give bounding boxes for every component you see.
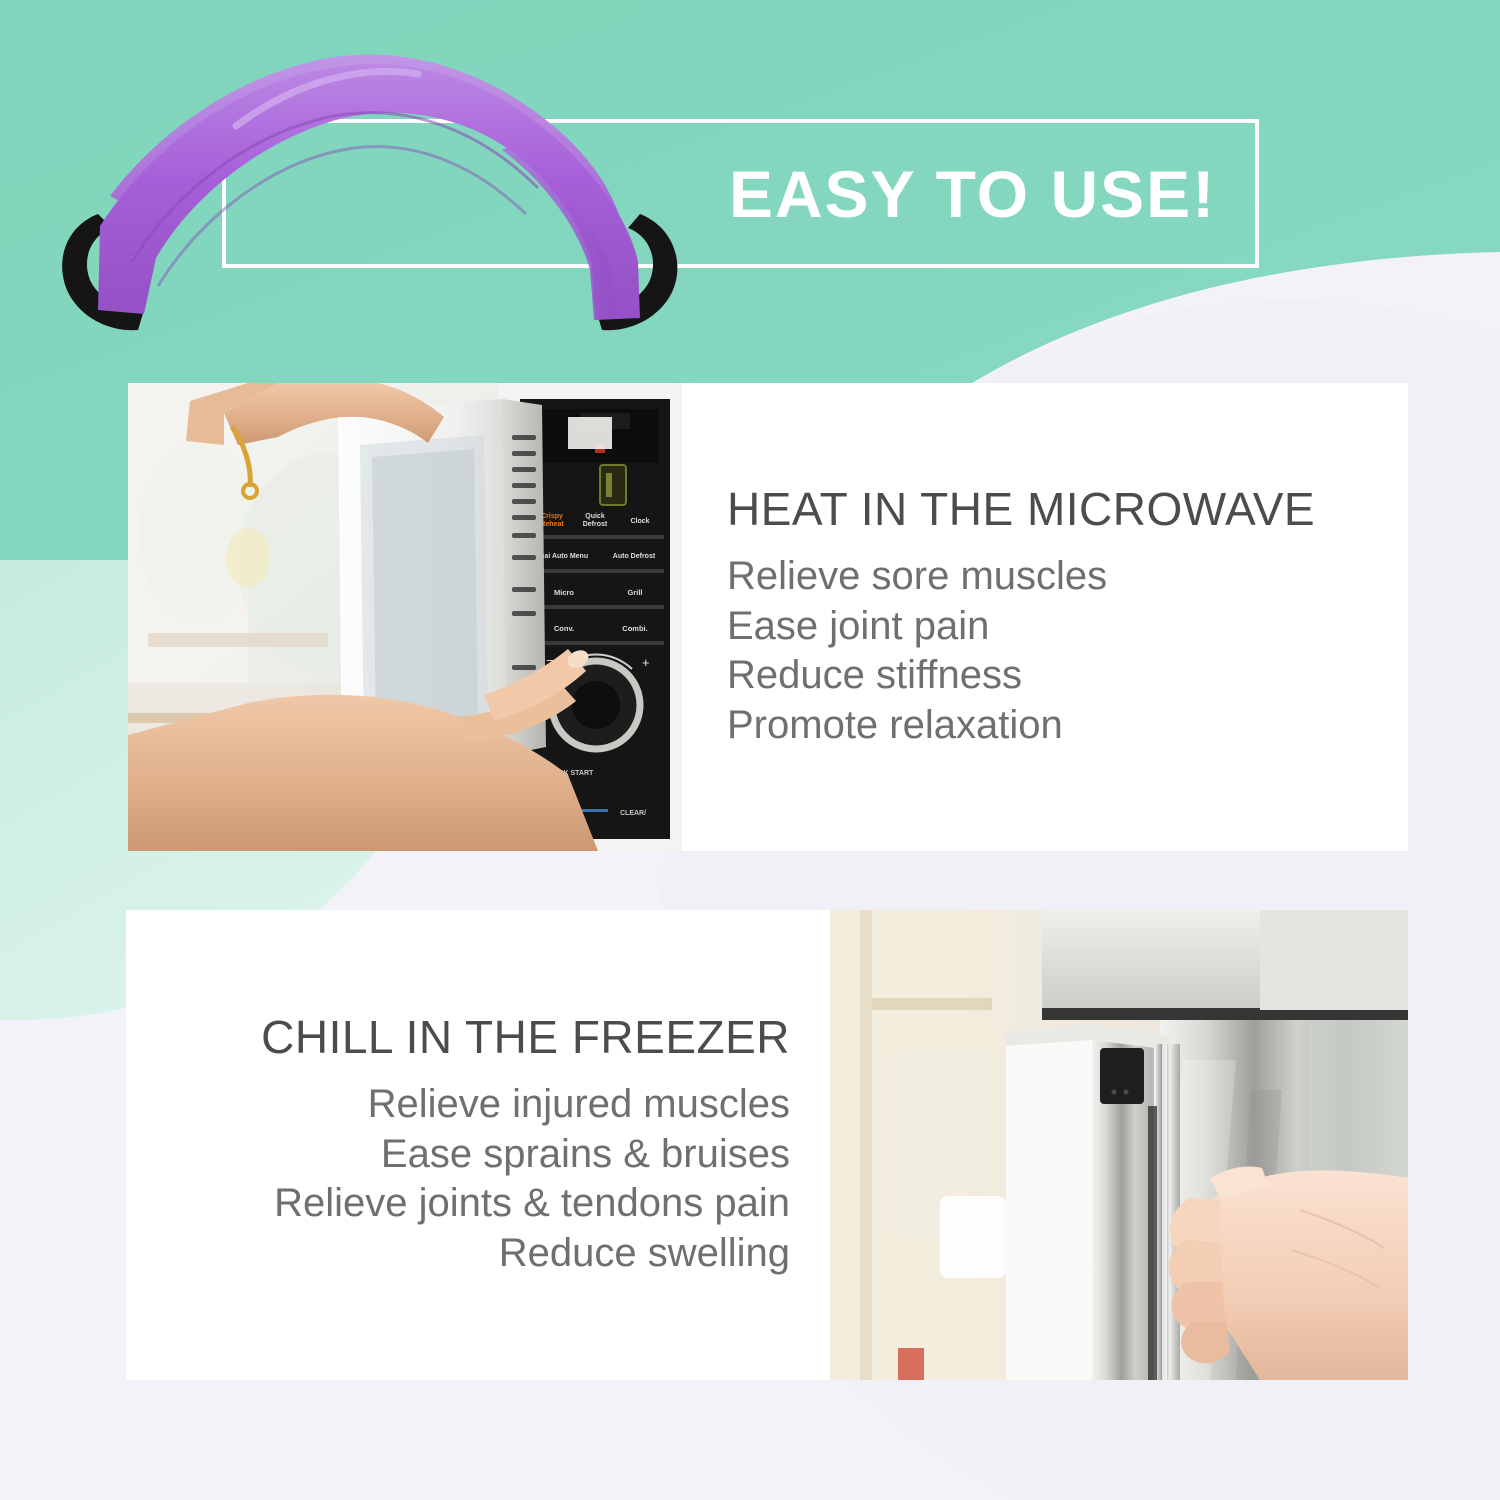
dial-plus-label: + <box>642 655 650 670</box>
list-item: Promote relaxation <box>727 701 1107 751</box>
panel-label-grill: Grill <box>627 588 642 597</box>
heat-bullet-list: Relieve sore muscles Ease joint pain Red… <box>727 552 1107 750</box>
infographic-page: EASY TO USE! <box>0 0 1500 1500</box>
door-hinge <box>1100 1048 1144 1104</box>
microwave-photo: Crispy Reheat Quick Defrost Clock Thai A… <box>128 383 682 851</box>
panel-label-clear-stop: CLEAR/ <box>620 810 646 817</box>
panel-label-micro: Micro <box>554 588 574 597</box>
list-item: Relieve joints & tendons pain <box>274 1179 790 1229</box>
list-item: Ease sprains & bruises <box>274 1130 790 1180</box>
panel-label-conv: Conv. <box>554 624 574 633</box>
chill-text-block: CHILL IN THE FREEZER Relieve injured mus… <box>126 910 830 1380</box>
chill-section-title: CHILL IN THE FREEZER <box>261 1012 790 1063</box>
svg-text:Reheat: Reheat <box>540 521 564 528</box>
refrigerator-photo <box>830 910 1408 1380</box>
chill-section-card: CHILL IN THE FREEZER Relieve injured mus… <box>126 910 1408 1380</box>
panel-label-quick-defrost: Quick <box>585 513 605 520</box>
svg-text:Defrost: Defrost <box>583 521 608 528</box>
panel-label-clock: Clock <box>630 518 649 525</box>
list-item: Reduce swelling <box>274 1229 790 1279</box>
list-item: Relieve sore muscles <box>727 552 1107 602</box>
heat-section-title: HEAT IN THE MICROWAVE <box>727 484 1315 535</box>
heat-section-card: Crispy Reheat Quick Defrost Clock Thai A… <box>128 383 1408 851</box>
panel-label-combi: Combi. <box>622 624 647 633</box>
list-item: Ease joint pain <box>727 602 1107 652</box>
list-item: Reduce stiffness <box>727 651 1107 701</box>
panel-label-auto-defrost: Auto Defrost <box>613 553 656 560</box>
banner-title: EASY TO USE! <box>700 140 1245 248</box>
list-item: Relieve injured muscles <box>274 1080 790 1130</box>
product-hero-image <box>40 18 700 348</box>
heat-text-block: HEAT IN THE MICROWAVE Relieve sore muscl… <box>682 383 1408 851</box>
chill-bullet-list: Relieve injured muscles Ease sprains & b… <box>274 1080 790 1278</box>
panel-label-crispy-reheat: Crispy <box>541 513 563 520</box>
